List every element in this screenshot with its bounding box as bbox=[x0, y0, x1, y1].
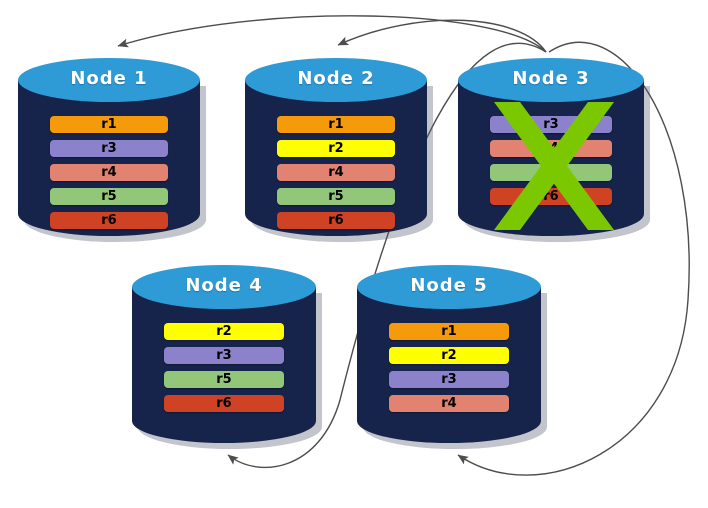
node-5-replica-r3[interactable]: r3 bbox=[389, 371, 509, 388]
node-3-replica-r3[interactable]: r3 bbox=[490, 116, 612, 133]
node-4[interactable]: Node 4r2r3r5r6 bbox=[132, 265, 316, 443]
node-1-replica-list: r1r3r4r5r6 bbox=[18, 116, 200, 236]
node-3-replica-r5[interactable]: r5 bbox=[490, 164, 612, 181]
node-4-replica-r3[interactable]: r3 bbox=[164, 347, 284, 364]
node-1-replica-r4[interactable]: r4 bbox=[50, 164, 168, 181]
node-5-replica-r1[interactable]: r1 bbox=[389, 323, 509, 340]
node-4-replica-r6[interactable]: r6 bbox=[164, 395, 284, 412]
node-1[interactable]: Node 1r1r3r4r5r6 bbox=[18, 58, 200, 236]
node-2-replica-r6[interactable]: r6 bbox=[277, 212, 395, 229]
node-2-replica-r4[interactable]: r4 bbox=[277, 164, 395, 181]
node-3-replica-r4[interactable]: r4 bbox=[490, 140, 612, 157]
node-3[interactable]: Node 3r3r4r5r6 bbox=[458, 58, 644, 236]
node-4-replica-r2[interactable]: r2 bbox=[164, 323, 284, 340]
node-2-replica-list: r1r2r4r5r6 bbox=[245, 116, 427, 236]
node-2-replica-r5[interactable]: r5 bbox=[277, 188, 395, 205]
node-1-replica-r6[interactable]: r6 bbox=[50, 212, 168, 229]
node-3-top-disc bbox=[458, 58, 644, 102]
arrow-node3-to-node2 bbox=[338, 20, 546, 52]
node-4-replica-list: r2r3r5r6 bbox=[132, 323, 316, 419]
diagram-canvas: Node 1r1r3r4r5r6Node 2r1r2r4r5r6Node 3r3… bbox=[0, 0, 708, 508]
node-5-replica-r2[interactable]: r2 bbox=[389, 347, 509, 364]
node-5-replica-r4[interactable]: r4 bbox=[389, 395, 509, 412]
node-5-replica-list: r1r2r3r4 bbox=[357, 323, 541, 419]
node-2[interactable]: Node 2r1r2r4r5r6 bbox=[245, 58, 427, 236]
node-1-replica-r5[interactable]: r5 bbox=[50, 188, 168, 205]
node-4-top-disc bbox=[132, 265, 316, 309]
node-4-replica-r5[interactable]: r5 bbox=[164, 371, 284, 388]
node-2-replica-r1[interactable]: r1 bbox=[277, 116, 395, 133]
node-2-replica-r2[interactable]: r2 bbox=[277, 140, 395, 157]
node-3-replica-list: r3r4r5r6 bbox=[458, 116, 644, 212]
node-5[interactable]: Node 5r1r2r3r4 bbox=[357, 265, 541, 443]
node-3-replica-r6[interactable]: r6 bbox=[490, 188, 612, 205]
arrow-node3-to-node1 bbox=[118, 16, 546, 52]
node-5-top-disc bbox=[357, 265, 541, 309]
node-1-replica-r1[interactable]: r1 bbox=[50, 116, 168, 133]
node-1-replica-r3[interactable]: r3 bbox=[50, 140, 168, 157]
node-1-top-disc bbox=[18, 58, 200, 102]
node-2-top-disc bbox=[245, 58, 427, 102]
